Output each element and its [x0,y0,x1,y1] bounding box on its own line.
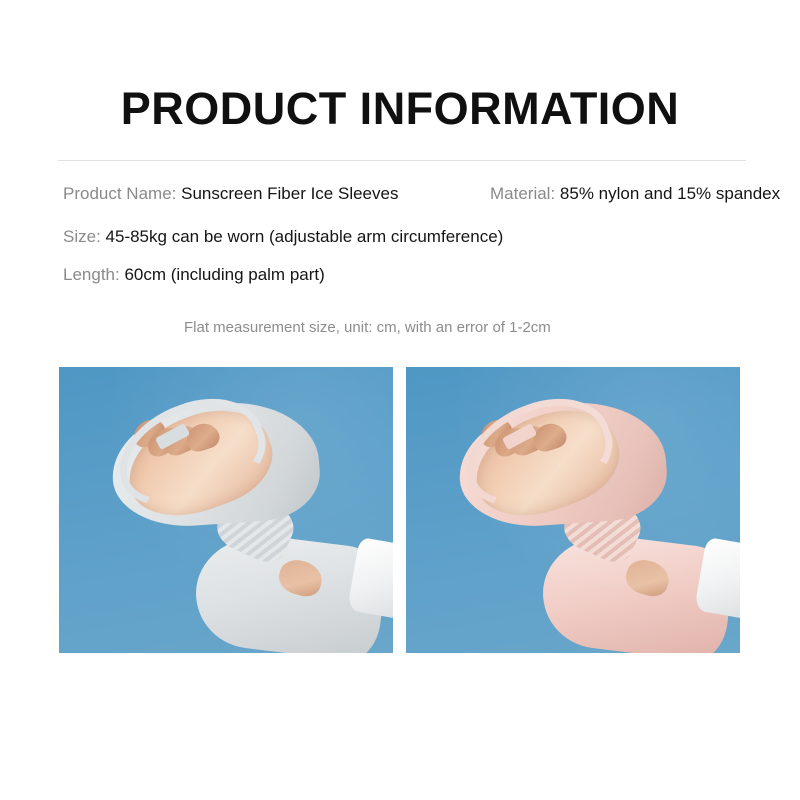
measurement-note: Flat measurement size, unit: cm, with an… [184,318,551,338]
page-title: PRODUCT INFORMATION [0,82,800,136]
spec-row-size: Size: 45-85kg can be worn (adjustable ar… [63,226,800,248]
length-value: 60cm (including palm part) [124,265,324,284]
product-name-label: Product Name: [63,184,176,203]
size-value: 45-85kg can be worn (adjustable arm circ… [106,227,504,246]
product-name-value: Sunscreen Fiber Ice Sleeves [181,184,398,203]
header-divider [58,160,746,161]
product-photo-gray [59,367,393,653]
product-photo-pink [406,367,740,653]
spec-row-material: Material: 85% nylon and 15% spandex [490,183,800,205]
material-value: 85% nylon and 15% spandex [560,184,780,203]
material-label: Material: [490,184,555,203]
spec-row-length: Length: 60cm (including palm part) [63,264,800,286]
product-information-page: PRODUCT INFORMATION Product Name: Sunscr… [0,0,800,800]
length-label: Length: [63,265,120,284]
size-label: Size: [63,227,101,246]
